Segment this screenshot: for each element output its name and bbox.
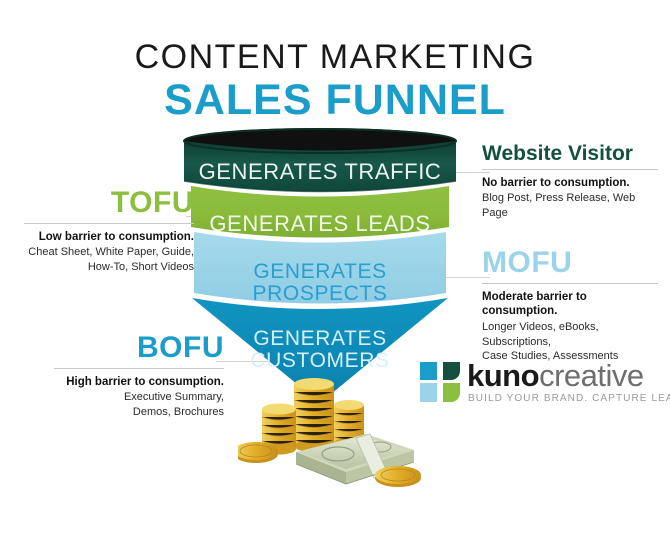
kuno-creative-logo[interactable]: kunocreative BUILD YOUR BRAND. CAPTURE L… <box>420 360 635 412</box>
bofu-title: BOFU <box>54 333 224 363</box>
kuno-creative-wordmark: kunocreative <box>467 360 644 391</box>
mofu-title: MOFU <box>482 248 658 278</box>
logo-word-creative: creative <box>539 358 644 393</box>
bofu-barrier-text: High barrier to consumption. <box>54 375 224 389</box>
callout-website-visitor: Website Visitor No barrier to consumptio… <box>482 143 658 221</box>
infographic-canvas: CONTENT MARKETING SALES FUNNEL <box>0 0 670 559</box>
logo-word-kuno: kuno <box>467 358 539 393</box>
tofu-examples-line-1: Cheat Sheet, White Paper, Guide, <box>24 245 194 260</box>
mofu-barrier-text: Moderate barrier to consumption. <box>482 290 658 319</box>
tofu-barrier-text: Low barrier to consumption. <box>24 230 194 244</box>
tofu-title: TOFU <box>24 188 194 218</box>
stack-of-cash-and-gold-coins-illustration <box>238 378 428 493</box>
loose-coin-right <box>375 466 421 487</box>
title-line-2: SALES FUNNEL <box>0 79 670 122</box>
mofu-examples-line-1: Longer Videos, eBooks, Subscriptions, <box>482 320 658 350</box>
bofu-examples-line-2: Demos, Brochures <box>54 405 224 420</box>
website-visitor-examples-line-1: Blog Post, Press Release, Web Page <box>482 191 658 221</box>
bofu-divider <box>54 368 224 369</box>
tofu-divider <box>24 223 194 224</box>
callout-bofu: BOFU High barrier to consumption. Execut… <box>54 333 224 420</box>
tofu-examples-line-2: How-To, Short Videos <box>24 260 194 275</box>
website-visitor-title: Website Visitor <box>482 143 658 164</box>
mofu-divider <box>482 283 658 284</box>
website-visitor-divider <box>482 169 658 170</box>
loose-coin-left <box>238 442 278 463</box>
website-visitor-barrier-text: No barrier to consumption. <box>482 176 658 190</box>
callout-tofu: TOFU Low barrier to consumption. Cheat S… <box>24 188 194 275</box>
title-line-1: CONTENT MARKETING <box>0 40 670 74</box>
callout-mofu: MOFU Moderate barrier to consumption. Lo… <box>482 248 658 364</box>
bofu-examples-line-1: Executive Summary, <box>54 390 224 405</box>
kuno-logo-mark-icon <box>420 362 460 402</box>
page-title: CONTENT MARKETING SALES FUNNEL <box>0 40 670 122</box>
kuno-logo-tagline: BUILD YOUR BRAND. CAPTURE LEADS. <box>468 393 670 404</box>
